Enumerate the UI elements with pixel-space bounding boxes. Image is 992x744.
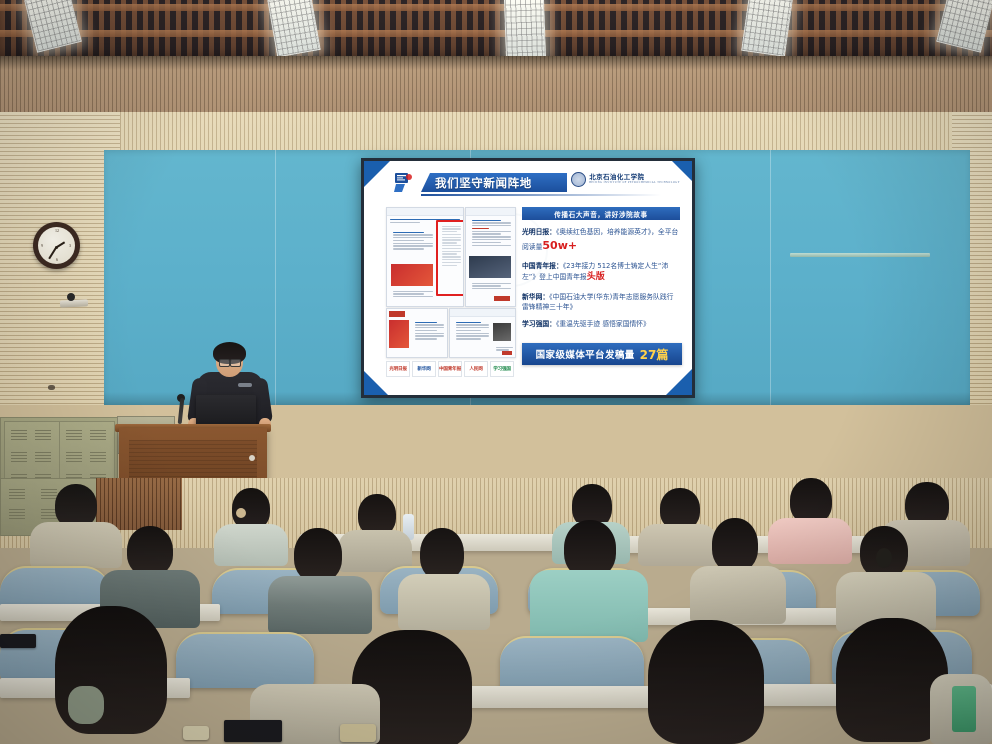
presentation-slide: 我们坚守新闻阵地 北京石油化工学院 BEIJING INSTITUTE OF P… [364,161,692,395]
audience-head [712,518,758,572]
media-logo-label: 新华网 [417,366,430,372]
media-logo-label: 人民网 [469,366,482,372]
slide-title-ribbon: 我们坚守新闻阵地 [421,173,567,192]
speaker-glasses-right [230,359,241,367]
wall-fixture [48,385,55,390]
clipping-photo [469,256,511,278]
clipping-photo [493,323,511,341]
projection-screen[interactable]: 我们坚守新闻阵地 北京石油化工学院 BEIJING INSTITUTE OF P… [361,158,695,398]
speaker-shirt-logo [238,383,252,387]
media-logo-label: 学习强国 [493,366,511,372]
media-logo: 光明日报 [386,361,410,377]
audience-body [398,574,490,630]
audience-body [30,522,122,568]
wall-mount-bracket [60,299,88,307]
news-clipping [386,308,448,358]
audience-head [127,526,173,576]
audience-hoodie [530,570,648,642]
ceiling-light-panel [741,0,793,57]
backdrop-seam [275,150,276,405]
clipping-photo [391,264,433,286]
slide-corner-decoration [666,369,692,395]
slide-corner-decoration [364,161,390,187]
media-logo-label: 中国青年报 [439,366,461,372]
slide-bottom-banner: 国家级媒体平台发稿量 27篇 [522,343,682,365]
audience-head [420,528,464,580]
slide-entry: 新华网：《中国石油大学(华东)青年志愿服务队践行雷锋精神三十年》 [522,292,680,313]
clipping-header [387,208,463,216]
auditorium-chair[interactable] [176,632,314,688]
clipping-header [450,309,515,317]
bottom-banner-text: 国家级媒体平台发稿量 [536,347,635,361]
lecture-hall-photo: 12 3 6 9 [0,0,992,744]
desk-item [183,726,209,740]
clock-face: 12 3 6 9 [38,227,75,264]
highlight-box [436,220,464,296]
wall-shadow [0,56,992,70]
clipping-photo [389,320,409,348]
audience-body [690,566,786,624]
media-logo: 新华网 [412,361,436,377]
media-logos-strip: 光明日报 新华网 中国青年报 人民网 学习强国 [386,361,514,377]
speaker-glasses-left [219,359,230,367]
entry-body: 《重温先驱手迹 感悟家国情怀》 [556,320,650,328]
ceiling-light-panel [504,0,546,61]
media-logo: 学习强国 [490,361,514,377]
audience-body [638,524,718,566]
audience-head-foreground [648,620,764,744]
hair-clip [236,508,246,518]
audience-head [294,528,342,582]
ceiling-light-panel [267,0,320,57]
media-logo: 人民网 [464,361,488,377]
wall-clock: 12 3 6 9 [33,222,80,269]
media-logo-label: 光明日报 [389,366,407,372]
audience-area [0,478,992,744]
tablet-device[interactable] [0,634,36,648]
news-clipping-collage [386,207,514,357]
slide-text-block: 传播石大声音，讲好涉院故事 光明日报：《奥续红色基因，培养能源英才》，全平台阅读… [522,207,680,330]
news-clipping [449,308,516,358]
slide-sub-banner: 传播石大声音，讲好涉院故事 [522,207,680,220]
whiteboard-tray [790,253,930,257]
ceiling-beam [0,4,992,11]
entry-label: 学习强国： [522,320,556,328]
smartphone[interactable] [224,720,282,742]
news-clipping [465,207,516,307]
audience-body [268,576,372,634]
hair-clip [876,548,892,568]
entry-highlight: 50w+ [542,239,577,252]
clock-center [55,246,58,249]
entry-label: 光明日报： [522,228,556,236]
university-seal-icon [571,172,586,187]
audience-body [768,518,852,564]
slide-corner-decoration [364,371,388,395]
university-logo: 北京石油化工学院 BEIJING INSTITUTE OF PETROCHEMI… [571,172,680,187]
hair-scrunchie [68,686,104,724]
desk-item [340,724,376,742]
audience-body [214,524,288,566]
backdrop-seam [770,150,771,405]
entry-highlight: 头版 [587,272,605,282]
podium-knob [249,455,255,461]
wall-camera-icon [67,293,75,301]
title-underline [421,194,661,196]
newspaper-emblem-icon [392,171,414,195]
slide-entry: 光明日报：《奥续红色基因，培养能源英才》，全平台阅读量50w+ [522,227,680,255]
university-name-en: BEIJING INSTITUTE OF PETROCHEMICAL TECHN… [589,181,680,185]
news-clipping [386,207,464,307]
water-bottle [952,686,976,732]
slide-entry: 学习强国：《重温先驱手迹 感悟家国情怀》 [522,319,680,330]
media-logo: 中国青年报 [438,361,462,377]
entry-label: 新华网： [522,293,549,301]
slide-entry: 中国青年报：《23年接力 512名博士铸定人生“沛左”》登上中国青年报头版 [522,261,680,285]
slide-title: 我们坚守新闻阵地 [435,175,532,191]
clipping-header [466,208,515,216]
entry-label: 中国青年报： [522,262,563,270]
ceiling-beam [0,30,992,37]
bottom-banner-count: 27篇 [640,346,669,363]
